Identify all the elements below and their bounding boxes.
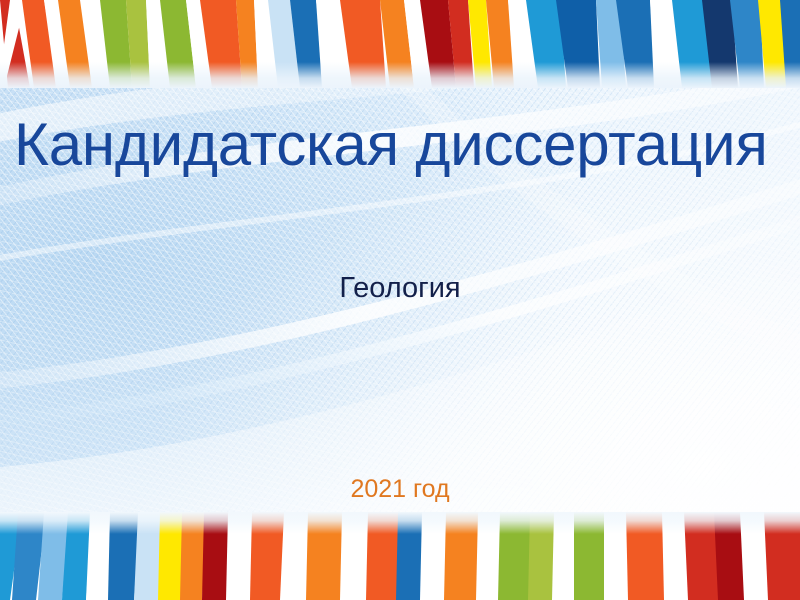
band-top-fade xyxy=(0,62,800,88)
abstract-geometric-band-bottom xyxy=(0,512,800,600)
presentation-title-slide: Кандидатская диссертация Геология 2021 г… xyxy=(0,0,800,600)
slide-title: Кандидатская диссертация xyxy=(14,108,800,182)
band-bottom-fade xyxy=(0,512,800,534)
abstract-geometric-band-top xyxy=(0,0,800,88)
slide-year: 2021 год xyxy=(0,474,800,505)
slide-subtitle: Геология xyxy=(0,270,800,306)
